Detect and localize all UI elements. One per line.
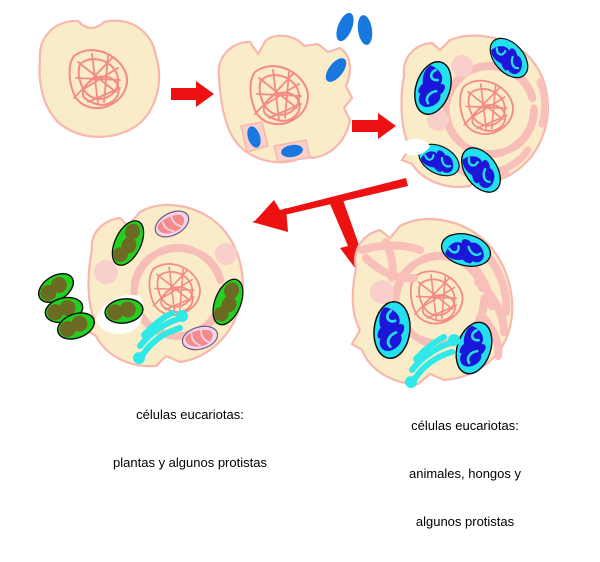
caption-animal-line1: células eucariotas: xyxy=(340,418,590,434)
free-bacterium xyxy=(333,10,357,43)
stage-4-plant-cell xyxy=(34,205,249,366)
caption-animal-cell: células eucariotas: animales, hongos y a… xyxy=(340,386,590,562)
caption-animal-line3: algunos protistas xyxy=(340,514,590,530)
caption-plant-line2: plantas y algunos protistas xyxy=(55,455,325,471)
stage-5-animal-cell xyxy=(352,219,512,388)
caption-plant-line1: células eucariotas: xyxy=(55,407,325,423)
caption-animal-line2: animales, hongos y xyxy=(340,466,590,482)
vacuole xyxy=(215,243,237,265)
arrow-stage2-to-stage3 xyxy=(352,113,396,139)
free-bacterium xyxy=(356,14,374,46)
stage-1-ancestral-cell xyxy=(40,21,160,137)
stage-2-engulfing-cell xyxy=(219,10,374,162)
vacuole xyxy=(94,260,118,284)
diagram-canvas: células eucariotas: plantas y algunos pr… xyxy=(0,0,600,454)
arrow-stage1-to-stage2 xyxy=(171,81,214,107)
stage-3-mitochondrial-cell xyxy=(402,31,551,199)
caption-plant-cell: células eucariotas: plantas y algunos pr… xyxy=(55,375,325,503)
vacuole xyxy=(451,55,473,77)
vacuole xyxy=(370,280,394,304)
